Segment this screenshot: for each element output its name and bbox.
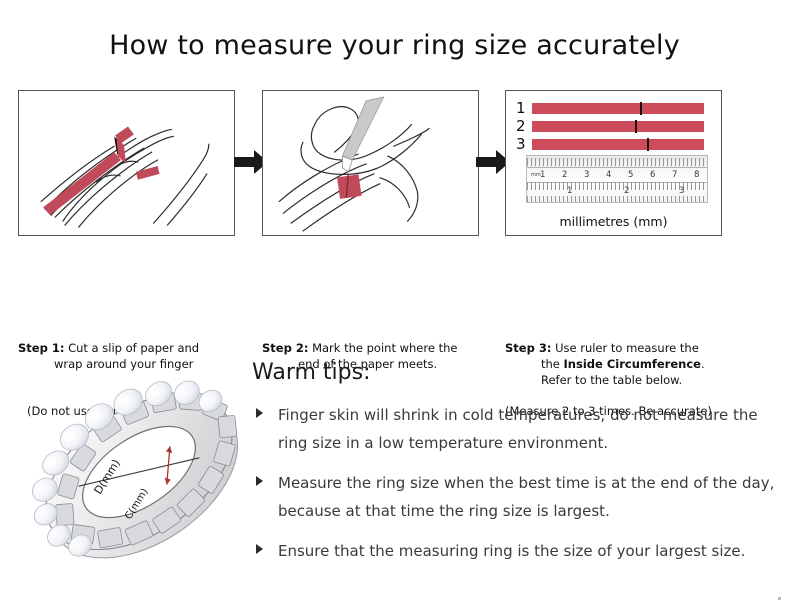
ruler-cm-tick-4: 4 [606,171,611,180]
hand-marking-paper-icon [263,91,478,235]
step-3-label: Step 3: [505,341,551,355]
millimetres-unit-label: millimetres (mm) [506,214,721,229]
ruler-graphic: mm 1 2 3 4 5 6 7 8 1 2 3 [526,155,708,203]
diamond-eternity-ring-icon: D(mm) C(mm) [22,352,257,587]
step-2-label: Step 2: [262,341,308,355]
paper-strip-row-1: 1 [516,101,712,116]
ruler-inch-tick-3: 3 [679,187,684,196]
strip-mark-3 [647,138,649,151]
ruler-cm-tick-6: 6 [650,171,655,180]
paper-strip-row-3: 3 [516,137,712,152]
paper-strip-3 [532,139,704,150]
warm-tip-item-3: Ensure that the measuring ring is the si… [252,537,777,565]
ruler-cm-tick-8: 8 [694,171,699,180]
ring-diagram: D(mm) C(mm) [22,352,257,587]
step-2-line-1: Mark the point where the [312,341,457,355]
strip-number-3: 3 [516,137,532,152]
steps-section: 1 2 3 mm 1 2 3 4 5 6 [0,90,789,340]
warm-tip-text-1: Finger skin will shrink in cold temperat… [278,406,758,452]
ruler-cm-tick-3: 3 [584,171,589,180]
page-title: How to measure your ring size accurately [0,30,789,61]
ruler-cm-tick-2: 2 [562,171,567,180]
step-3-illustration-panel: 1 2 3 mm 1 2 3 4 5 6 [505,90,722,236]
triangle-bullet-icon [256,544,263,554]
ruler-cm-tick-7: 7 [672,171,677,180]
paper-strip-2 [532,121,704,132]
step-2-illustration-panel [262,90,479,236]
strip-number-1: 1 [516,101,532,116]
triangle-bullet-icon [256,408,263,418]
ruler-bottom-tick-band [527,196,707,203]
hand-with-paper-slip-icon [19,91,234,235]
warm-tip-text-3: Ensure that the measuring ring is the si… [278,542,745,560]
ruler-divider-top [527,167,707,168]
warm-tip-item-1: Finger skin will shrink in cold temperat… [252,401,777,457]
warm-tip-text-2: Measure the ring size when the best time… [278,474,774,520]
ruler-cm-tick-5: 5 [628,171,633,180]
paper-band-shape [337,174,362,199]
warm-tips-section: Warm tips: Finger skin will shrink in co… [252,360,777,577]
strip-number-2: 2 [516,119,532,134]
ruler-inch-tick-2: 2 [624,187,629,196]
step-1-illustration-panel [18,90,235,236]
warm-tips-heading: Warm tips: [252,360,777,385]
paper-strip-row-2: 2 [516,119,712,134]
warm-tip-item-2: Measure the ring size when the best time… [252,469,777,525]
strip-mark-1 [640,102,642,115]
ruler-inch-tick-1: 1 [567,187,572,196]
triangle-bullet-icon [256,476,263,486]
corner-artifact [778,597,781,600]
strip-mark-2 [635,120,637,133]
step-3-line-1: Use ruler to measure the [555,341,699,355]
paper-strip-1 [532,103,704,114]
ruler-cm-tick-1: 1 [540,171,545,180]
ruler-top-tick-band [527,158,707,166]
